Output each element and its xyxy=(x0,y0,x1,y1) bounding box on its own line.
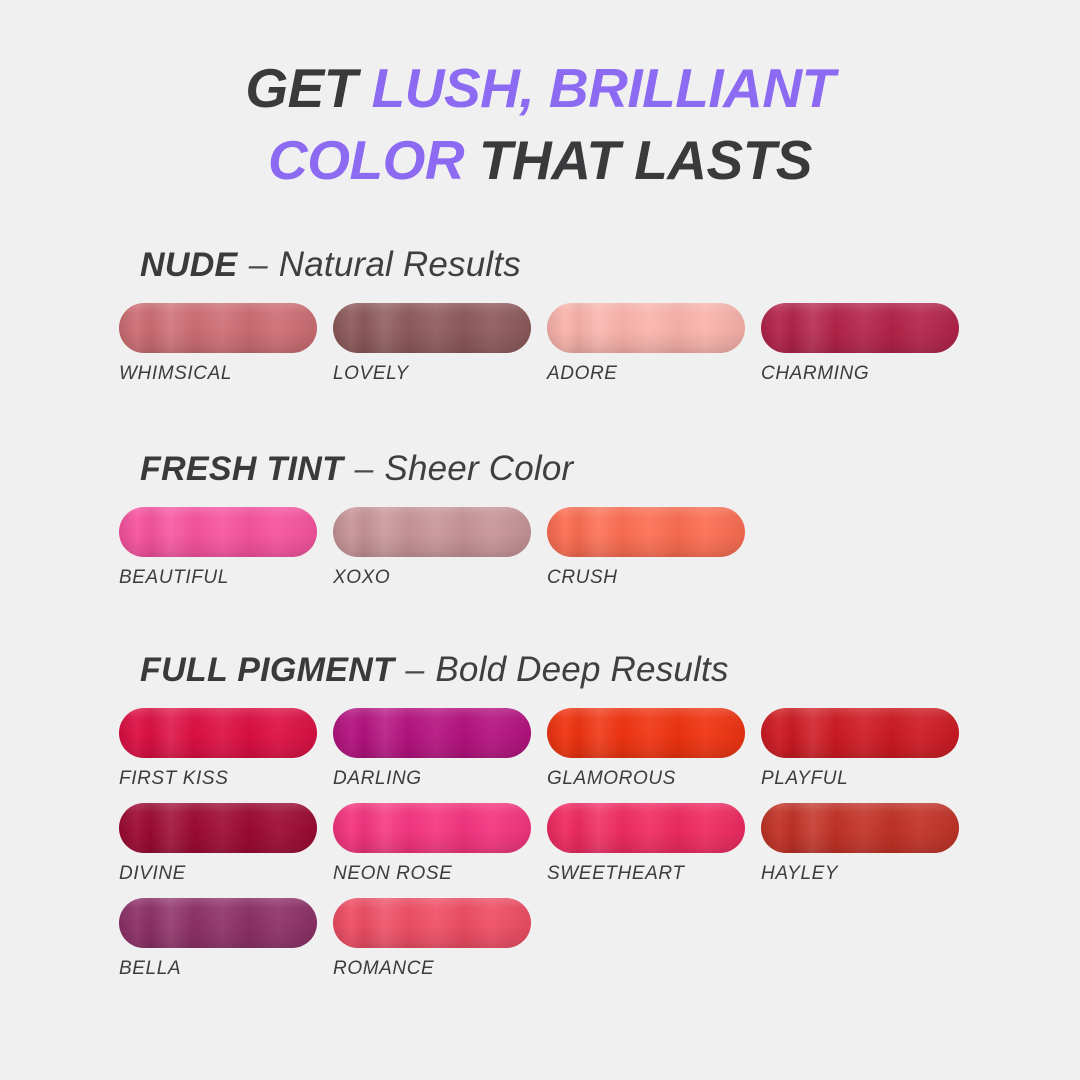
swatch-chip[interactable] xyxy=(119,803,317,853)
swatch-grid-nude: WHIMSICAL LOVELY ADORE CHARMING xyxy=(0,303,1080,386)
swatch-grid-fresh-tint: BEAUTIFUL XOXO CRUSH xyxy=(0,507,1080,590)
swatch-label: GLAMOROUS xyxy=(547,767,745,791)
poster-canvas: GET LUSH, BRILLIANT COLOR THAT LASTS NUD… xyxy=(0,0,1080,1080)
swatch-neon-rose[interactable]: NEON ROSE xyxy=(333,803,531,886)
swatch-label: ROMANCE xyxy=(333,957,531,981)
swatch-row: BEAUTIFUL XOXO CRUSH xyxy=(119,507,1080,590)
swatch-xoxo[interactable]: XOXO xyxy=(333,507,531,590)
swatch-row: DIVINE NEON ROSE SWEETHEART HAYLEY xyxy=(119,803,1080,886)
swatch-crush[interactable]: CRUSH xyxy=(547,507,745,590)
headline-line2-dark: THAT LASTS xyxy=(479,129,812,191)
swatch-sweetheart[interactable]: SWEETHEART xyxy=(547,803,745,886)
headline-line1-dark: GET xyxy=(245,57,371,119)
swatch-adore[interactable]: ADORE xyxy=(547,303,745,386)
swatch-label: PLAYFUL xyxy=(761,767,959,791)
swatch-chip[interactable] xyxy=(119,303,317,353)
swatch-chip[interactable] xyxy=(547,708,745,758)
swatch-chip[interactable] xyxy=(333,507,531,557)
swatch-label: BELLA xyxy=(119,957,317,981)
swatch-divine[interactable]: DIVINE xyxy=(119,803,317,886)
swatch-label: CHARMING xyxy=(761,362,959,386)
swatch-romance[interactable]: ROMANCE xyxy=(333,898,531,981)
swatch-chip[interactable] xyxy=(547,803,745,853)
swatch-chip[interactable] xyxy=(761,803,959,853)
swatch-label: HAYLEY xyxy=(761,862,959,886)
section-full-pigment-title-strong: FULL PIGMENT xyxy=(140,651,394,689)
section-fresh-tint-title-strong: FRESH TINT xyxy=(140,450,343,488)
headline-line1-accent: LUSH, BRILLIANT xyxy=(372,57,835,119)
swatch-lovely[interactable]: LOVELY xyxy=(333,303,531,386)
headline-line-2: COLOR THAT LASTS xyxy=(0,124,1080,196)
section-full-pigment-title-dash: – xyxy=(394,651,435,689)
swatch-chip[interactable] xyxy=(547,507,745,557)
section-nude-title-sub: Natural Results xyxy=(279,245,521,284)
swatch-label: NEON ROSE xyxy=(333,862,531,886)
headline-line2-accent: COLOR xyxy=(268,129,479,191)
section-fresh-tint: FRESH TINT – Sheer Color BEAUTIFUL XOXO … xyxy=(0,447,1080,590)
swatch-darling[interactable]: DARLING xyxy=(333,708,531,791)
swatch-hayley[interactable]: HAYLEY xyxy=(761,803,959,886)
swatch-chip[interactable] xyxy=(547,303,745,353)
swatch-chip[interactable] xyxy=(119,898,317,948)
section-fresh-tint-title: FRESH TINT – Sheer Color xyxy=(0,447,1080,491)
section-full-pigment-title-sub: Bold Deep Results xyxy=(435,650,728,689)
swatch-chip[interactable] xyxy=(761,303,959,353)
swatch-label: DIVINE xyxy=(119,862,317,886)
swatch-bella[interactable]: BELLA xyxy=(119,898,317,981)
section-nude-title-strong: NUDE xyxy=(140,246,238,284)
swatch-chip[interactable] xyxy=(119,507,317,557)
section-nude-title-dash: – xyxy=(238,246,279,284)
swatch-label: XOXO xyxy=(333,566,531,590)
swatch-playful[interactable]: PLAYFUL xyxy=(761,708,959,791)
swatch-chip[interactable] xyxy=(119,708,317,758)
swatch-grid-full-pigment: FIRST KISS DARLING GLAMOROUS PLAYFUL xyxy=(0,708,1080,981)
swatch-chip[interactable] xyxy=(333,708,531,758)
swatch-label: BEAUTIFUL xyxy=(119,566,317,590)
swatch-chip[interactable] xyxy=(761,708,959,758)
swatch-label: FIRST KISS xyxy=(119,767,317,791)
swatch-label: WHIMSICAL xyxy=(119,362,317,386)
swatch-label: CRUSH xyxy=(547,566,745,590)
section-nude-title: NUDE – Natural Results xyxy=(0,243,1080,287)
swatch-first-kiss[interactable]: FIRST KISS xyxy=(119,708,317,791)
headline-line-1: GET LUSH, BRILLIANT xyxy=(0,52,1080,124)
swatch-label: SWEETHEART xyxy=(547,862,745,886)
swatch-row: BELLA ROMANCE xyxy=(119,898,1080,981)
swatch-whimsical[interactable]: WHIMSICAL xyxy=(119,303,317,386)
swatch-label: DARLING xyxy=(333,767,531,791)
section-full-pigment: FULL PIGMENT – Bold Deep Results FIRST K… xyxy=(0,648,1080,981)
section-fresh-tint-title-sub: Sheer Color xyxy=(384,449,573,488)
swatch-charming[interactable]: CHARMING xyxy=(761,303,959,386)
section-full-pigment-title: FULL PIGMENT – Bold Deep Results xyxy=(0,648,1080,692)
swatch-chip[interactable] xyxy=(333,803,531,853)
section-nude: NUDE – Natural Results WHIMSICAL LOVELY … xyxy=(0,243,1080,386)
swatch-label: LOVELY xyxy=(333,362,531,386)
swatch-chip[interactable] xyxy=(333,898,531,948)
swatch-label: ADORE xyxy=(547,362,745,386)
page-title: GET LUSH, BRILLIANT COLOR THAT LASTS xyxy=(0,52,1080,196)
swatch-row: WHIMSICAL LOVELY ADORE CHARMING xyxy=(119,303,1080,386)
swatch-chip[interactable] xyxy=(333,303,531,353)
swatch-glamorous[interactable]: GLAMOROUS xyxy=(547,708,745,791)
swatch-row: FIRST KISS DARLING GLAMOROUS PLAYFUL xyxy=(119,708,1080,791)
section-fresh-tint-title-dash: – xyxy=(343,450,384,488)
swatch-beautiful[interactable]: BEAUTIFUL xyxy=(119,507,317,590)
